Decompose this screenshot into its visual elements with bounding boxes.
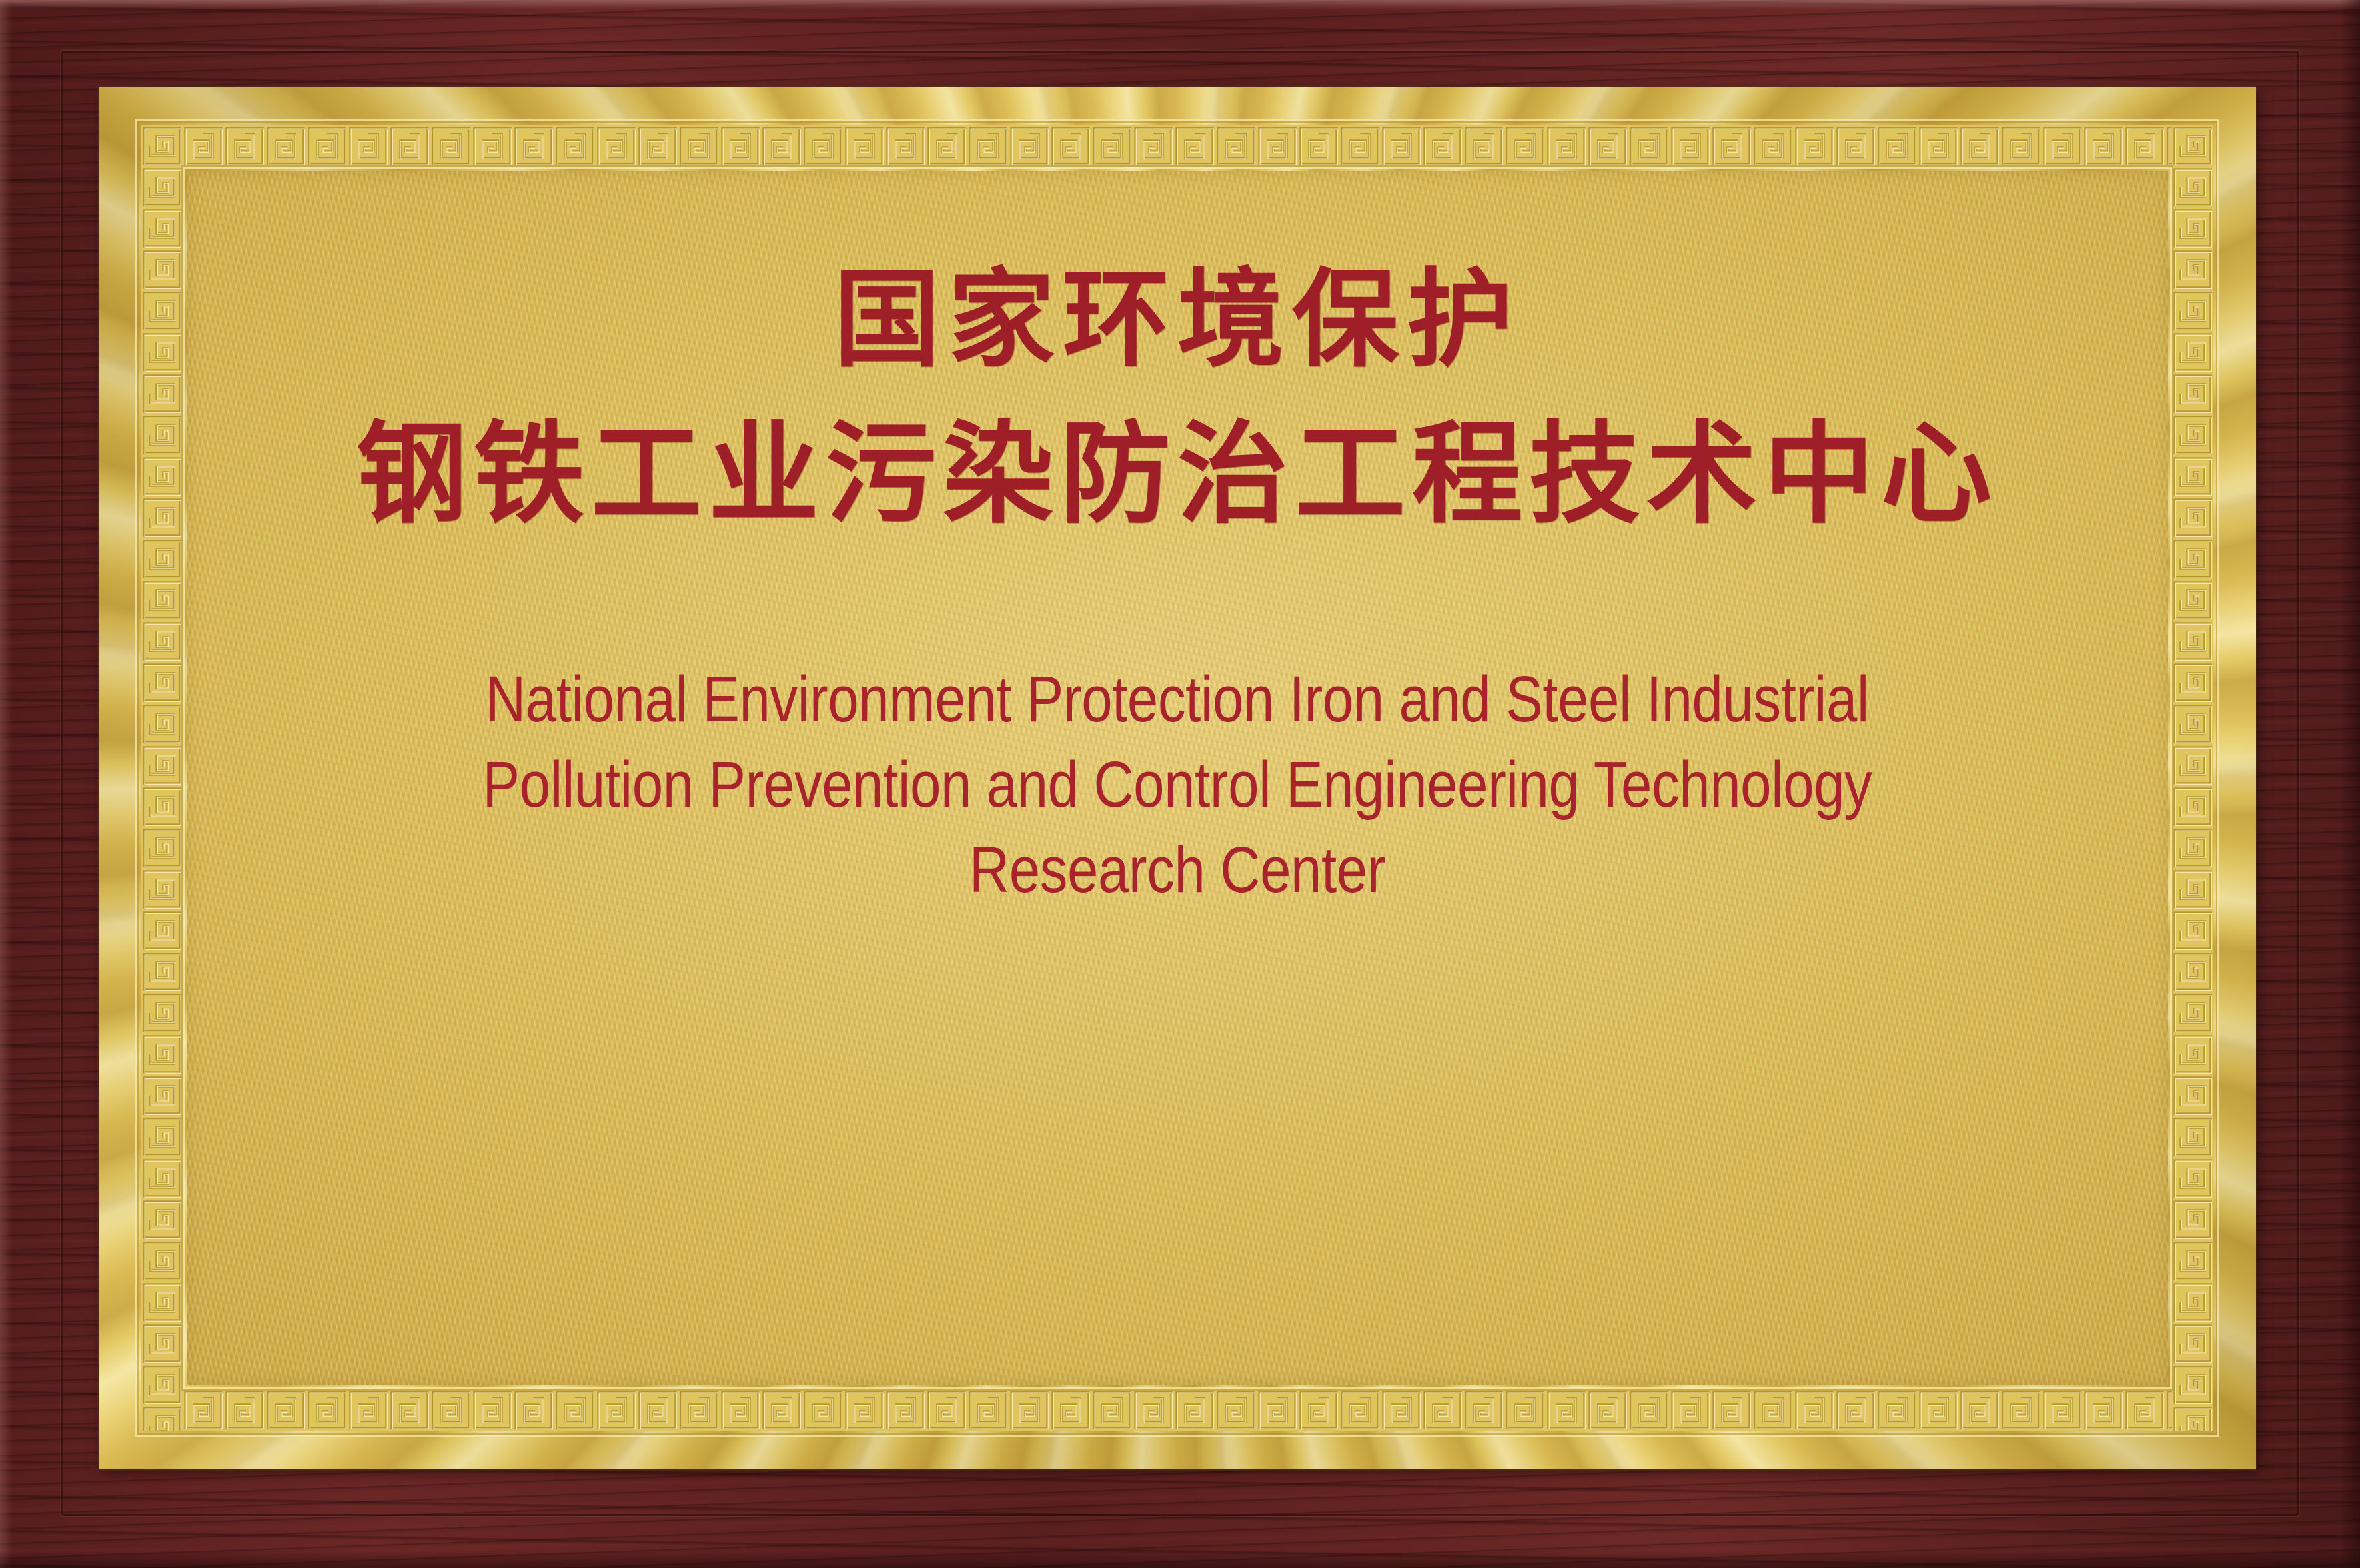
- english-subtitle-line-1: National Environment Protection Iron and…: [455, 657, 1899, 742]
- greek-key-band-left: [141, 125, 183, 1431]
- frame-right-shadow: [2340, 0, 2360, 1568]
- gold-plate: 国家环境保护 钢铁工业污染防治工程技术中心 National Environme…: [99, 87, 2256, 1469]
- greek-key-band-bottom: [141, 1389, 2213, 1431]
- english-subtitle: National Environment Protection Iron and…: [455, 657, 1899, 913]
- award-plaque: 国家环境保护 钢铁工业污染防治工程技术中心 National Environme…: [0, 0, 2360, 1568]
- plaque-text-block: 国家环境保护 钢铁工业污染防治工程技术中心 National Environme…: [225, 217, 2129, 1356]
- greek-key-band-top: [141, 125, 2213, 167]
- greek-key-band-right: [2172, 125, 2213, 1431]
- english-subtitle-line-2: Pollution Prevention and Control Enginee…: [455, 742, 1899, 827]
- frame-bottom-shadow: [0, 1551, 2360, 1568]
- english-subtitle-line-3: Research Center: [455, 827, 1899, 913]
- chinese-title-line-1: 国家环境保护: [834, 266, 1521, 373]
- frame-left-highlight: [0, 0, 12, 1568]
- chinese-title-line-2: 钢铁工业污染防治工程技术中心: [356, 420, 1998, 530]
- frame-top-highlight: [0, 0, 2360, 9]
